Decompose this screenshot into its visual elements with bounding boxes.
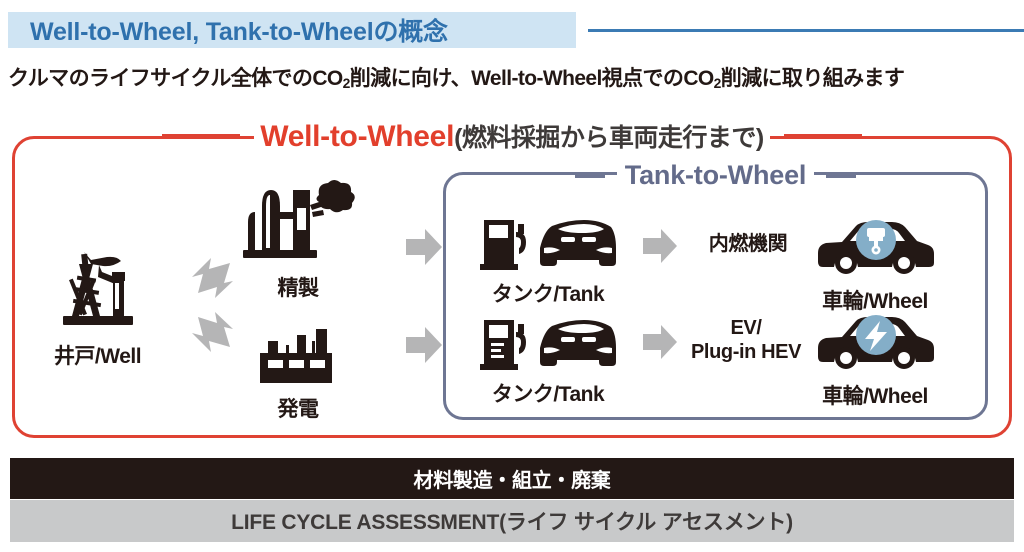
label-ev-plugin-hev: EV/ Plug-in HEV [676,317,816,364]
material-lifecycle-bar: 材料製造・組立・廃棄 [10,458,1014,499]
tank-to-wheel-heading: Tank-to-Wheel [443,160,988,191]
title-banner: Well-to-Wheel, Tank-to-Wheelの概念 [8,12,576,48]
node-refining-label: 精製 [278,272,319,302]
ttw-rule-left [575,174,605,178]
wtw-title-en: Well-to-Wheel [260,120,454,154]
power-plant-icon [256,327,340,389]
ttw-title: Tank-to-Wheel [617,160,814,191]
label-ev-line1: EV/ [676,317,816,341]
wtw-title-jp: (燃料採掘から車両走行まで) [454,118,764,154]
refinery-smoke-icon [240,178,356,268]
subtitle-part-3: 削減に取り組みます [721,67,905,90]
node-refining: 精製 [228,178,368,302]
node-tank-ice: タンク/Tank [468,212,628,308]
lca-bar-label: LIFE CYCLE ASSESSMENT(ライフ サイクル アセスメント) [231,506,793,536]
page-title: Well-to-Wheel, Tank-to-Wheelの概念 [30,12,448,48]
node-wheel-ev-label: 車輪/Wheel [822,380,928,410]
node-power-label: 発電 [278,393,319,423]
node-wheel-ice: 車輪/Wheel [800,215,950,315]
node-well-label: 井戸/Well [54,340,141,370]
lca-bar: LIFE CYCLE ASSESSMENT(ライフ サイクル アセスメント) [10,500,1014,542]
car-lightning-icon [812,310,938,376]
subtitle-sub-2: 2 [714,75,721,91]
subtitle-part-1: クルマのライフサイクル全体でのCO [8,67,343,90]
label-ev-line2: Plug-in HEV [676,341,816,365]
arrow-right-icon-tank-ev [641,322,679,367]
subtitle-part-2: 削減に向け、Well-to-Wheel視点でのCO [350,67,714,90]
arrow-right-icon-refining-tank [404,226,444,273]
material-lifecycle-bar-label: 材料製造・組立・廃棄 [414,464,611,493]
wtw-rule-right [784,134,862,138]
subtitle-sub-1: 2 [343,75,350,91]
wtw-title-wrap: Well-to-Wheel (燃料採掘から車両走行まで) [254,118,770,154]
oil-derrick-icon [55,248,141,336]
node-tank-ev-label: タンク/Tank [492,378,604,408]
car-piston-icon [812,215,938,281]
node-power: 発電 [230,327,366,423]
arrow-right-icon-tank-ice [641,226,679,271]
well-to-wheel-heading: Well-to-Wheel (燃料採掘から車両走行まで) [0,118,1024,154]
charger-pump-car-icon [478,312,618,374]
node-tank-ice-label: タンク/Tank [492,278,604,308]
label-internal-combustion: 内燃機関 [686,233,810,257]
diagram-root: Well-to-Wheel, Tank-to-Wheelの概念 クルマのライフサ… [0,0,1024,552]
wtw-rule-left [162,134,240,138]
subtitle: クルマのライフサイクル全体でのCO2削減に向け、Well-to-Wheel視点で… [8,62,1020,92]
fuel-pump-car-icon [478,212,618,274]
title-rule [588,29,1024,32]
node-wheel-ev: 車輪/Wheel [800,310,950,410]
ttw-rule-right [826,174,856,178]
arrow-right-icon-power-tank [404,324,444,371]
node-tank-ev: タンク/Tank [468,312,628,408]
node-well: 井戸/Well [20,248,175,370]
